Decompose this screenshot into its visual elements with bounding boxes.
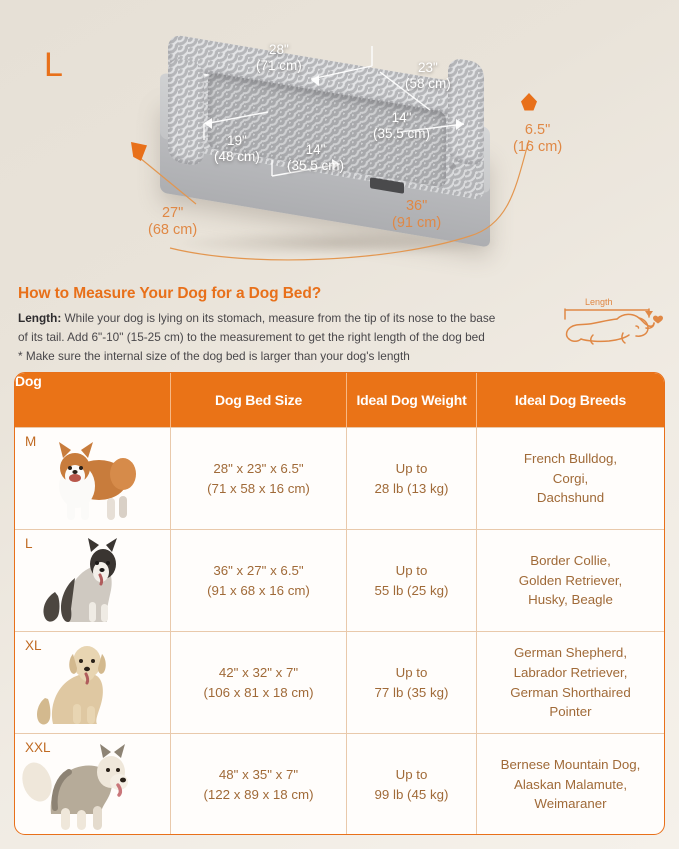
dimension-sleep-side-inch: 14" [392, 110, 412, 125]
dimension-outer-width: 36" (91 cm) [392, 198, 441, 233]
infographic-page: L [0, 0, 679, 849]
border-collie-photo [15, 530, 170, 632]
dimension-sleep-width-inch: 19" [227, 133, 247, 148]
dimension-inner-depth-metric: (58 cm) [405, 76, 451, 91]
column-header-weight: Ideal Dog Weight [346, 373, 476, 427]
how-to-measure-body: Length: While your dog is lying on its s… [18, 309, 574, 366]
bed-bolster-right [448, 57, 484, 167]
bed-size-cell: 28" x 23" x 6.5" (71 x 58 x 16 cm) [170, 428, 346, 529]
dog-size-table: Dog Dog Bed Size Ideal Dog Weight Ideal … [14, 372, 665, 835]
bed-size-cell: 42" x 32" x 7" (106 x 81 x 18 cm) [170, 632, 346, 733]
breeds-text: Bernese Mountain Dog, Alaskan Malamute, … [501, 755, 641, 815]
dimension-inner-depth-inch: 23" [418, 60, 438, 75]
weight-cell: Up to 99 lb (45 kg) [346, 734, 476, 835]
weight-cell: Up to 77 lb (35 kg) [346, 632, 476, 733]
dimension-height-inch: 6.5" [525, 122, 550, 138]
dimension-height: 6.5" (16 cm) [513, 122, 562, 157]
breeds-cell: German Shepherd, Labrador Retriever, Ger… [476, 632, 664, 733]
dimension-sleep-depth-inch: 14" [306, 142, 326, 157]
breeds-cell: Bernese Mountain Dog, Alaskan Malamute, … [476, 734, 664, 835]
dimension-outer-depth-inch: 27" [162, 205, 183, 221]
dimension-outer-depth: 27" (68 cm) [148, 205, 197, 240]
column-header-dog: Dog [15, 373, 170, 427]
table-body: M [15, 427, 664, 835]
dimension-inner-depth: 23" (58 cm) [405, 60, 451, 92]
dimension-outer-depth-metric: (68 cm) [148, 222, 197, 238]
dimension-inner-width-inch: 28" [269, 42, 289, 57]
dimension-outer-width-metric: (91 cm) [392, 215, 441, 231]
table-row: L [15, 529, 664, 631]
dimension-height-metric: (16 cm) [513, 139, 562, 155]
length-label: Length: [18, 311, 61, 325]
corgi-photo [15, 428, 170, 530]
table-row: XL [15, 631, 664, 733]
dimension-sleep-side-metric: (35.5 cm) [373, 126, 430, 141]
column-header-breeds: Ideal Dog Breeds [476, 373, 664, 427]
how-to-measure-section: How to Measure Your Dog for a Dog Bed? L… [0, 285, 679, 366]
dog-photo-cell: L [15, 530, 170, 631]
bed-size-text: 48" x 35" x 7" (122 x 89 x 18 cm) [203, 765, 313, 805]
dimension-inner-width: 28" (71 cm) [256, 42, 302, 74]
dimension-sleep-width-metric: (48 cm) [214, 149, 260, 164]
dimension-sleep-side: 14" (35.5 cm) [373, 110, 430, 142]
how-to-line-3: * Make sure the internal size of the dog… [18, 349, 410, 363]
dimension-inner-width-metric: (71 cm) [256, 58, 302, 73]
bed-size-cell: 48" x 35" x 7" (122 x 89 x 18 cm) [170, 734, 346, 835]
breeds-text: French Bulldog, Corgi, Dachshund [524, 449, 617, 509]
column-header-bed-size: Dog Bed Size [170, 373, 346, 427]
breeds-cell: French Bulldog, Corgi, Dachshund [476, 428, 664, 529]
weight-text: Up to 77 lb (35 kg) [375, 663, 449, 703]
size-badge: L [44, 48, 63, 82]
labrador-photo [15, 632, 170, 734]
dog-photo-cell: XL [15, 632, 170, 733]
weight-text: Up to 99 lb (45 kg) [375, 765, 449, 805]
dog-photo-cell: M [15, 428, 170, 529]
bed-size-text: 28" x 23" x 6.5" (71 x 58 x 16 cm) [207, 459, 310, 499]
heart-icon [653, 316, 663, 324]
bed-size-text: 42" x 32" x 7" (106 x 81 x 18 cm) [203, 663, 313, 703]
dimension-sleep-depth: 14" (35.5 cm) [287, 142, 344, 174]
table-row: M [15, 427, 664, 529]
breeds-cell: Border Collie, Golden Retriever, Husky, … [476, 530, 664, 631]
dimension-sleep-width: 19" (48 cm) [214, 133, 260, 165]
table-row: XXL [15, 733, 664, 835]
weight-text: Up to 55 lb (25 kg) [375, 561, 449, 601]
weight-cell: Up to 28 lb (13 kg) [346, 428, 476, 529]
product-hero: L [0, 0, 679, 278]
weight-cell: Up to 55 lb (25 kg) [346, 530, 476, 631]
breeds-text: Border Collie, Golden Retriever, Husky, … [519, 551, 622, 611]
breeds-text: German Shepherd, Labrador Retriever, Ger… [510, 643, 630, 723]
malamute-photo [15, 734, 170, 835]
length-caption: Length [585, 297, 613, 307]
how-to-line-1: While your dog is lying on its stomach, … [61, 311, 495, 325]
bed-size-text: 36" x 27" x 6.5" (91 x 68 x 16 cm) [207, 561, 310, 601]
dimension-sleep-depth-metric: (35.5 cm) [287, 158, 344, 173]
dog-length-diagram: Length [557, 297, 665, 355]
weight-text: Up to 28 lb (13 kg) [375, 459, 449, 499]
dimension-outer-width-inch: 36" [406, 198, 427, 214]
how-to-line-2: of its tail. Add 6"-10" (15-25 cm) to th… [18, 330, 485, 344]
bed-size-cell: 36" x 27" x 6.5" (91 x 68 x 16 cm) [170, 530, 346, 631]
table-header-row: Dog Dog Bed Size Ideal Dog Weight Ideal … [15, 373, 664, 427]
dog-photo-cell: XXL [15, 734, 170, 835]
bed-bolster-left [168, 57, 204, 167]
